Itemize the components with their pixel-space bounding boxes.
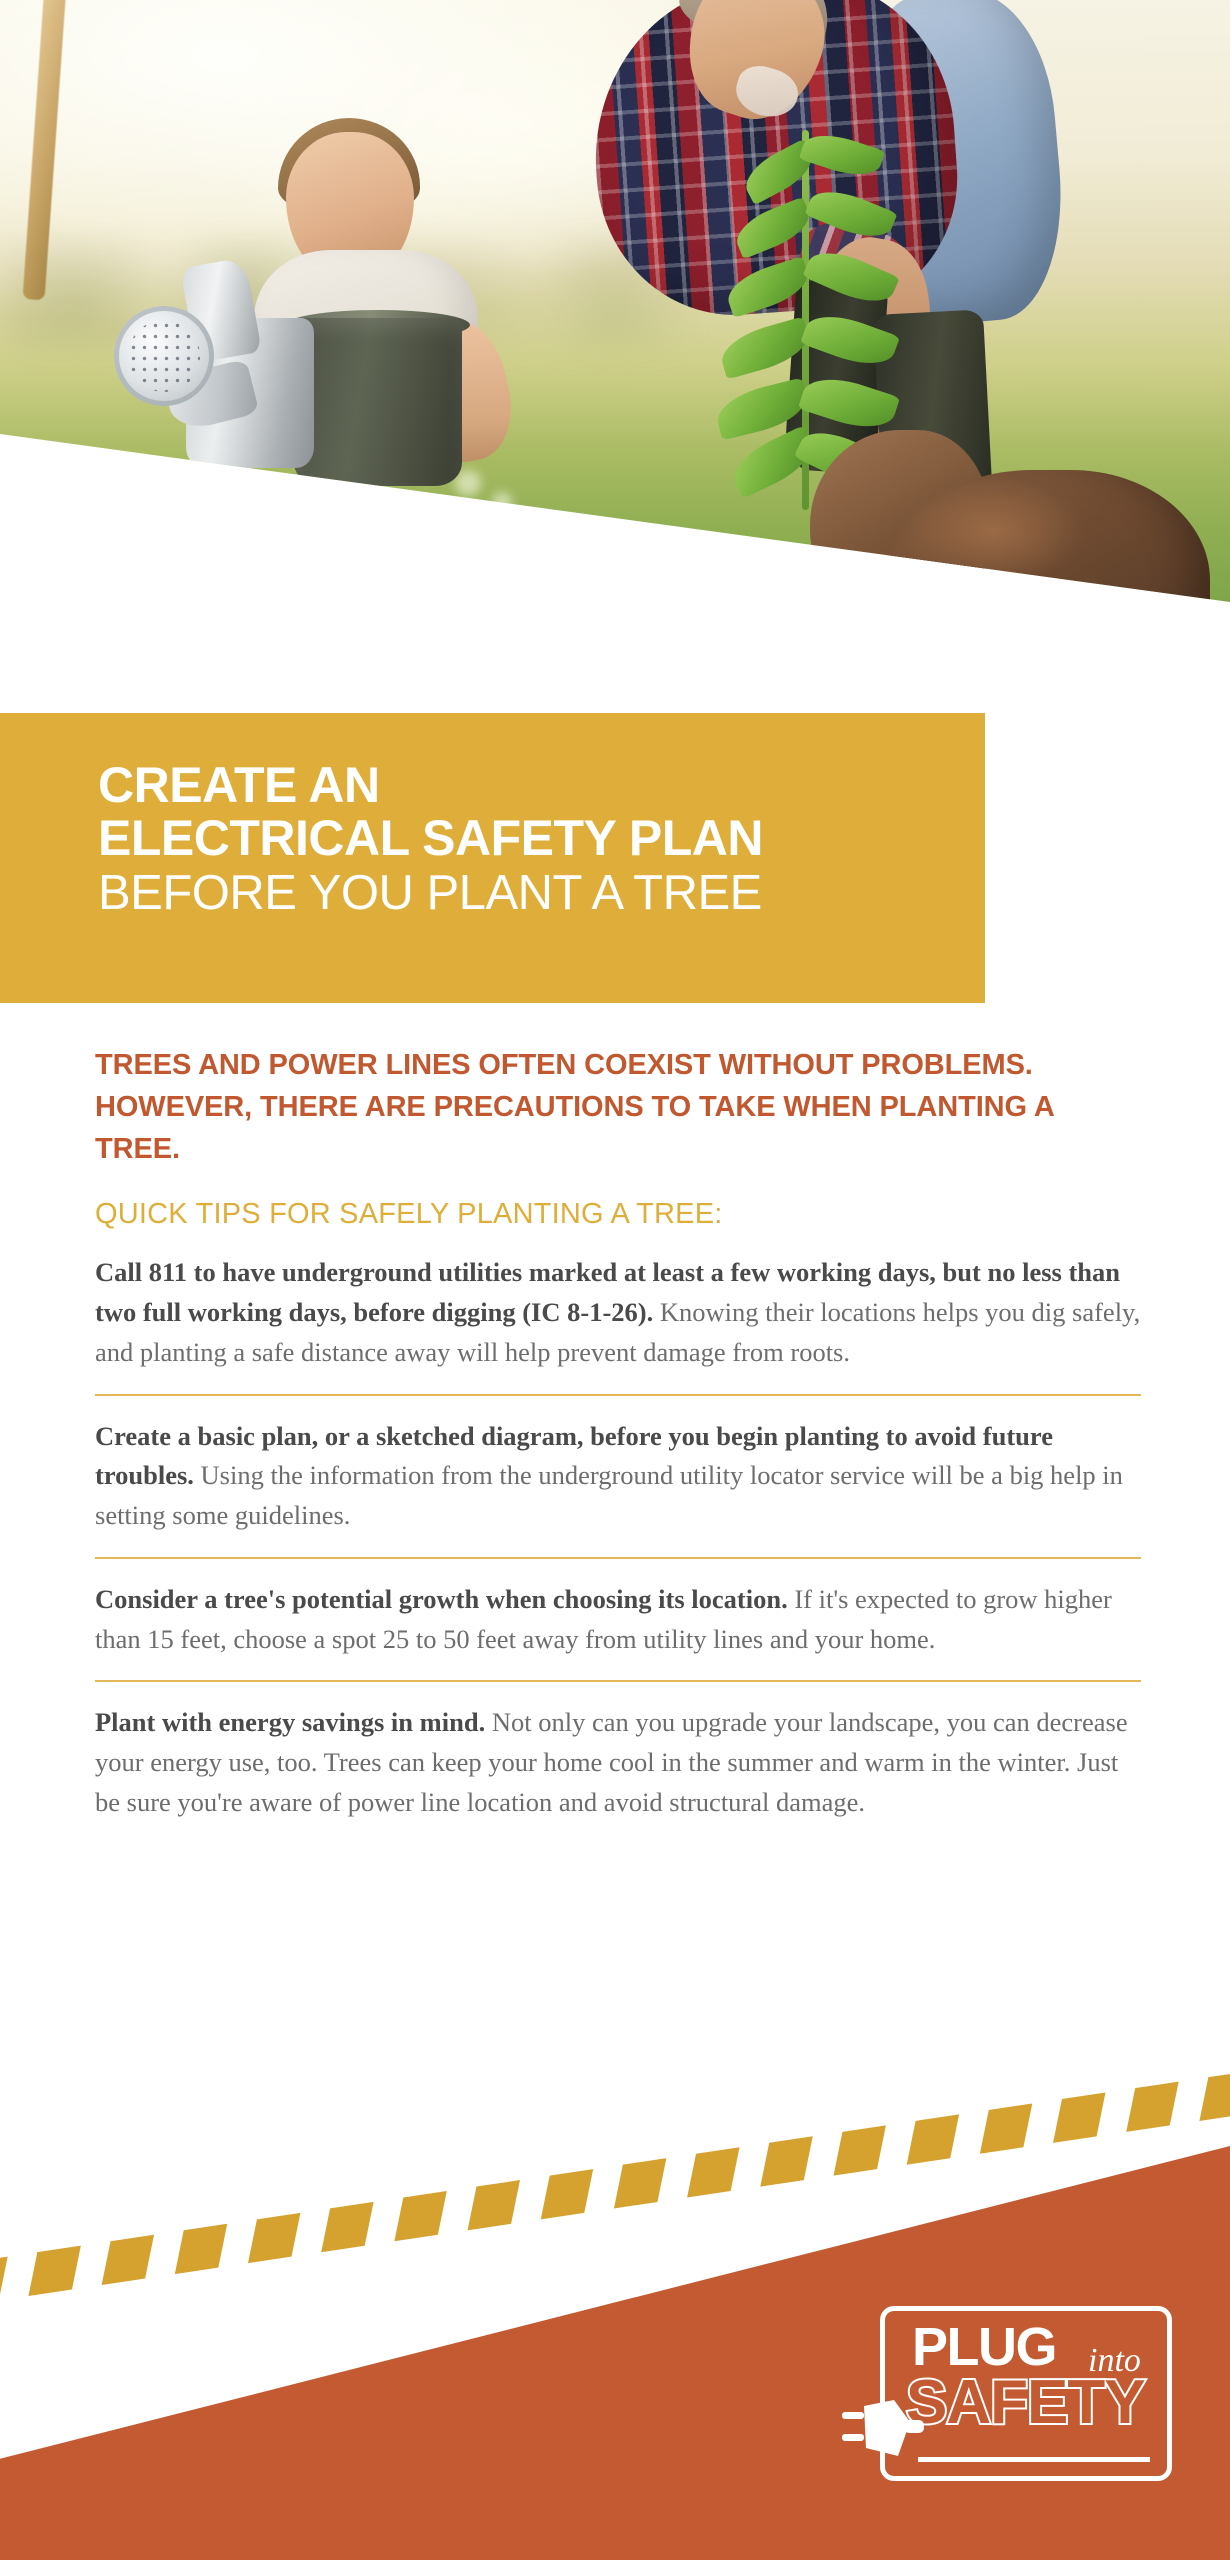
title-line-1: CREATE AN	[98, 759, 955, 812]
dash-segment	[0, 2257, 8, 2307]
dash-segment	[248, 2213, 300, 2263]
title-line-3: BEFORE YOU PLANT A TREE	[98, 868, 955, 919]
title-text-group: CREATE AN ELECTRICAL SAFETY PLAN BEFORE …	[98, 759, 955, 919]
infographic-poster: CREATE AN ELECTRICAL SAFETY PLAN BEFORE …	[0, 0, 1230, 2560]
logo-word-plug: PLUG	[912, 2320, 1056, 2374]
tip-bold-text: Consider a tree's potential growth when …	[95, 1584, 788, 1614]
brand-logo: PLUG into SAFETY	[842, 2300, 1172, 2488]
dash-segment	[760, 2136, 812, 2186]
bokeh-dot	[470, 520, 486, 536]
quick-tips-heading: QUICK TIPS FOR SAFELY PLANTING A TREE:	[95, 1198, 1143, 1231]
dash-segment	[28, 2246, 80, 2296]
logo-underline	[918, 2457, 1150, 2462]
tip-item: Call 811 to have underground utilities m…	[95, 1253, 1143, 1372]
bokeh-dot	[455, 470, 481, 496]
logo-word-safety: SAFETY	[906, 2372, 1145, 2434]
sapling-leaf	[722, 256, 814, 318]
tip-item: Plant with energy savings in mind. Not o…	[95, 1703, 1143, 1822]
bokeh-dot	[492, 492, 512, 512]
sapling-leaf	[799, 126, 886, 183]
dash-segment	[468, 2180, 520, 2230]
hero-photo	[0, 0, 1230, 700]
dash-segment	[1199, 2071, 1230, 2121]
title-banner: CREATE AN ELECTRICAL SAFETY PLAN BEFORE …	[0, 713, 985, 1003]
electrical-plug-icon	[842, 2396, 926, 2466]
tip-item: Consider a tree's potential growth when …	[95, 1580, 1143, 1660]
tip-bold-text: Plant with energy savings in mind.	[95, 1707, 485, 1737]
sapling-leaf	[804, 181, 897, 247]
dash-segment	[907, 2114, 959, 2164]
dash-segment	[1053, 2093, 1105, 2143]
tip-body-text: Using the information from the undergrou…	[95, 1460, 1123, 1530]
tip-divider	[95, 1680, 1141, 1682]
tip-divider	[95, 1394, 1141, 1396]
dash-segment	[980, 2103, 1032, 2153]
dash-segment	[321, 2202, 373, 2252]
lede-paragraph: TREES AND POWER LINES OFTEN COEXIST WITH…	[95, 1045, 1143, 1170]
dash-segment	[102, 2235, 154, 2285]
watering-can-rose	[114, 306, 214, 406]
dash-segment	[175, 2224, 227, 2274]
dash-segment	[687, 2147, 739, 2197]
tip-divider	[95, 1557, 1141, 1559]
title-line-2: ELECTRICAL SAFETY PLAN	[98, 812, 955, 865]
sapling-leaf	[800, 305, 900, 374]
content-area: TREES AND POWER LINES OFTEN COEXIST WITH…	[95, 1045, 1143, 1823]
watering-can	[112, 248, 342, 468]
dash-segment	[833, 2125, 885, 2175]
sapling-leaf	[798, 369, 900, 438]
tip-item: Create a basic plan, or a sketched diagr…	[95, 1417, 1143, 1536]
dash-segment	[541, 2169, 593, 2219]
dash-segment	[394, 2191, 446, 2241]
sapling-leaf	[802, 241, 900, 312]
dash-segment	[614, 2158, 666, 2208]
tips-list: Call 811 to have underground utilities m…	[95, 1253, 1143, 1822]
dash-segment	[1126, 2082, 1178, 2132]
sapling-leaf	[716, 316, 814, 379]
